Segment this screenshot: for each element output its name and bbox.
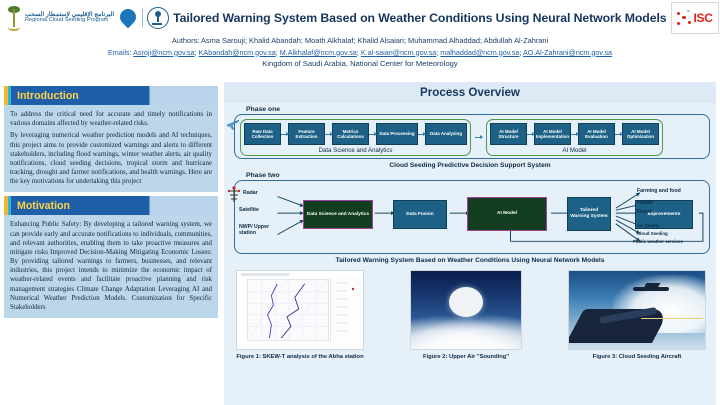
- poster-header: البرنامج الإقليمي لإستمطار السحب Regiona…: [0, 0, 720, 82]
- node-tailored-warning-system[interactable]: Tailored Warning System: [567, 197, 611, 231]
- phase-two-caption: Tailored Warning System Based on Weather…: [224, 254, 716, 264]
- program-name-block: البرنامج الإقليمي لإستمطار السحب Regiona…: [25, 12, 114, 24]
- data-science-group: Raw Data Collection Feature Extraction M…: [240, 119, 471, 156]
- introduction-body: To address the critical need for accurat…: [4, 105, 218, 192]
- output-label-farming-and-food: Farming and food: [637, 188, 681, 194]
- phase-two-label: Phase two: [224, 169, 716, 180]
- flow-arrow-icon: [615, 134, 622, 135]
- email-link-5[interactable]: malhaddad@ncm.gov.sa: [440, 48, 519, 57]
- email-link-1[interactable]: Asroji@ncm.gov.sa: [133, 48, 195, 57]
- weather-radar-tower-icon: [226, 186, 242, 204]
- ai-model-flow: AI Model Structure AI Model Implementati…: [490, 123, 659, 145]
- source-label-satellite: Satellite: [239, 208, 259, 214]
- aircraft-image: [569, 271, 705, 349]
- data-science-group-caption: Data Science and Analytics: [244, 145, 467, 154]
- phase-one-rows: Raw Data Collection Feature Extraction M…: [240, 119, 704, 156]
- program-name-english: Regional Cloud Seeding Program: [25, 18, 114, 24]
- node-ai-model-evaluation[interactable]: AI Model Evaluation: [578, 123, 615, 145]
- figure-3-caption: Figure 3: Cloud Seeding Aircraft: [593, 354, 682, 360]
- left-column: Introduction To address the critical nee…: [0, 82, 222, 405]
- node-data-analyzing[interactable]: Data Analyzing: [425, 123, 467, 145]
- output-label-cloud-seeding: Cloud Seeding: [637, 231, 668, 236]
- water-drop-icon: [118, 7, 138, 29]
- authors-line: Authors: Asma Sarouji; Khalid Abandah; M…: [0, 36, 720, 45]
- flow-arrow-icon: [325, 134, 332, 135]
- node-data-science-and-analytics[interactable]: Data Science and Analytics: [303, 200, 373, 229]
- introduction-paragraph-2: By leveraging numerical weather predicti…: [10, 131, 212, 186]
- header-meta: Authors: Asma Sarouji; Khalid Abandah; M…: [0, 34, 720, 68]
- phase-one-caption: Cloud Seeding Predictive Decision Suppor…: [224, 159, 716, 169]
- accent-bar-cyan: [8, 196, 11, 215]
- email-link-6[interactable]: AO.Al-Zahrani@ncm.gov.sa: [523, 48, 612, 57]
- phase-one-label: Phase one: [224, 103, 716, 114]
- regional-cloud-seeding-program-logo: البرنامج الإقليمي لإستمطار السحب Regiona…: [6, 5, 114, 31]
- skew-t-chart: [236, 270, 364, 350]
- header-top-row: البرنامج الإقليمي لإستمطار السحب Regiona…: [0, 0, 720, 34]
- node-ai-model-implementation[interactable]: AI Model Implementation: [534, 123, 571, 145]
- accent-bar-cyan: [8, 86, 11, 105]
- output-label-flood: Flood: [637, 209, 651, 215]
- introduction-paragraph-1: To address the critical need for accurat…: [10, 110, 212, 128]
- node-raw-data-collection[interactable]: Raw Data Collection: [244, 123, 281, 145]
- phase-two-container: Radar Satellite NWP/ Upper station Data …: [234, 180, 710, 254]
- skew-t-plot: [237, 271, 363, 349]
- phase-one-container: Raw Data Collection Feature Extraction M…: [234, 114, 710, 159]
- node-ai-model[interactable]: AI Model: [467, 197, 547, 231]
- output-label-public-weather-services: Public weather services: [633, 239, 683, 244]
- figures-row: Figure 1: SKEW-T analysis of the Abha st…: [224, 264, 716, 360]
- poster-root: البرنامج الإقليمي لإستمطار السحب Regiona…: [0, 0, 720, 405]
- email-link-4[interactable]: K.al-saiari@ncm.gov.sa: [361, 48, 436, 57]
- introduction-header: Introduction: [4, 86, 218, 105]
- ai-model-group-caption: AI Model: [490, 145, 659, 154]
- flow-arrow-icon: [527, 134, 534, 135]
- source-label-nwp-upper-station: NWP/ Upper station: [239, 225, 269, 237]
- right-column: Process Overview Phase one Raw Data Coll…: [222, 82, 720, 405]
- node-feature-extraction[interactable]: Feature Extraction: [288, 123, 325, 145]
- affiliation-line: Kingdom of Saudi Arabia, National Center…: [0, 59, 720, 68]
- page-title: Tailored Warning System Based on Weather…: [169, 11, 670, 25]
- ncm-seal-icon: [147, 7, 169, 29]
- email-link-2[interactable]: KAbandah@ncm.gov.sa: [199, 48, 276, 57]
- flow-arrow-icon: [475, 137, 482, 138]
- flow-arrow-icon: [418, 134, 425, 135]
- motivation-header: Motivation: [4, 196, 218, 215]
- cloud-seeding-aircraft-photo: [568, 270, 706, 350]
- figure-3: Figure 3: Cloud Seeding Aircraft: [568, 270, 706, 360]
- node-data-fusion[interactable]: Data Fusion: [393, 200, 447, 229]
- flow-arrow-icon: [571, 134, 578, 135]
- node-ai-model-structure[interactable]: AI Model Structure: [490, 123, 527, 145]
- flow-arrow-icon: [369, 134, 376, 135]
- upper-air-sounding-photo: [410, 270, 522, 350]
- motivation-body: Enhancing Public Safety: By developing a…: [4, 215, 218, 318]
- output-label-air-quality: Air Quality: [637, 223, 659, 228]
- emails-label: Emails:: [108, 48, 132, 57]
- motivation-paragraph-1: Enhancing Public Safety: By developing a…: [10, 220, 212, 312]
- source-label-radar: Radar: [243, 191, 258, 197]
- output-label-health: Health: [637, 200, 653, 206]
- introduction-title: Introduction: [4, 90, 79, 102]
- figure-2: Figure 2: Upper Air "Sounding": [410, 270, 522, 360]
- process-overview-title: Process Overview: [224, 82, 716, 103]
- ai-model-group: AI Model Structure AI Model Implementati…: [486, 119, 663, 156]
- emails-line: Emails: Asroji@ncm.gov.sa; KAbandah@ncm.…: [0, 48, 720, 57]
- isc-logo: ISC: [671, 2, 719, 34]
- figure-2-caption: Figure 2: Upper Air "Sounding": [423, 354, 509, 360]
- node-data-processing[interactable]: Data Processing: [376, 123, 418, 145]
- flow-arrow-icon: [281, 134, 288, 135]
- isc-wordmark: ISC: [693, 11, 712, 25]
- data-science-flow: Raw Data Collection Feature Extraction M…: [244, 123, 467, 145]
- motivation-title: Motivation: [4, 200, 70, 212]
- node-metrics-calculations[interactable]: Metrics Calculations: [332, 123, 369, 145]
- airplane-icon: [226, 116, 242, 132]
- logo-divider: [142, 9, 143, 27]
- phase-one-connector: [475, 119, 482, 156]
- isc-network-icon: [676, 10, 692, 26]
- poster-body: Introduction To address the critical nee…: [0, 82, 720, 405]
- tree-icon: [6, 5, 22, 31]
- node-ai-model-optimization[interactable]: AI Model Optimization: [622, 123, 659, 145]
- figure-1: Figure 1: SKEW-T analysis of the Abha st…: [236, 270, 364, 360]
- figure-1-caption: Figure 1: SKEW-T analysis of the Abha st…: [236, 354, 363, 360]
- sounding-balloon-image: [411, 271, 521, 349]
- email-link-3[interactable]: M.Alkhalaf@ncm.gov.sa: [280, 48, 357, 57]
- process-overview-panel: Process Overview Phase one Raw Data Coll…: [224, 82, 716, 405]
